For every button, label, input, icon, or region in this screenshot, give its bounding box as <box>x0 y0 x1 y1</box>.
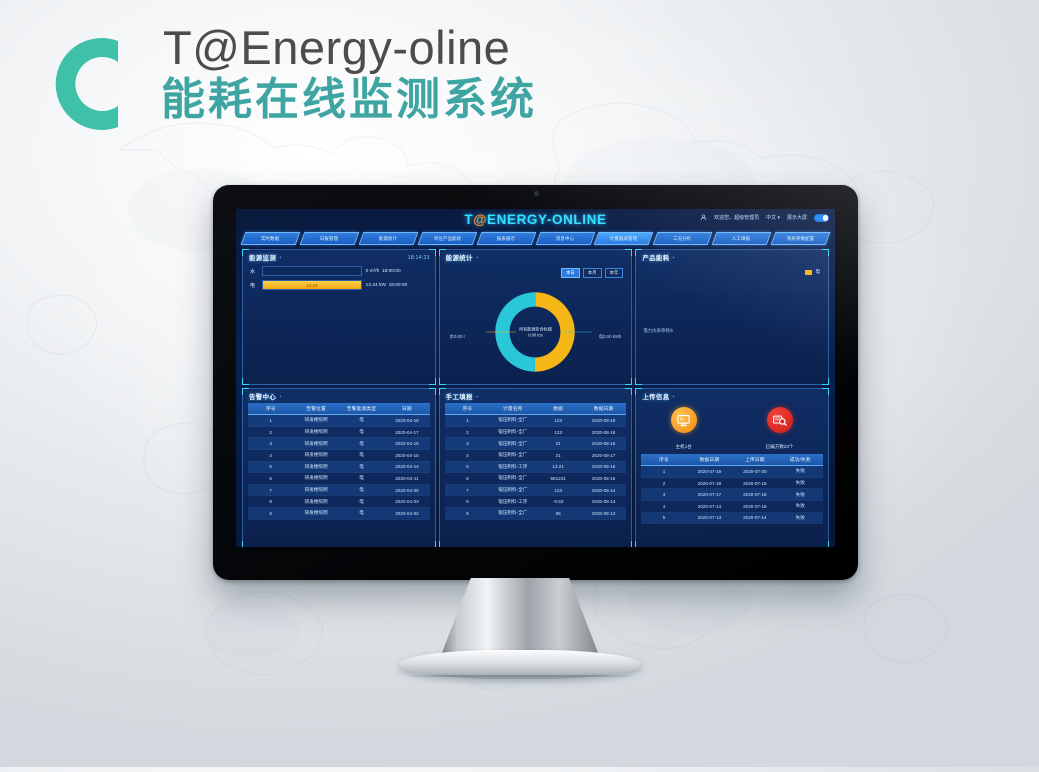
energy-row-water-value: 0 m³/h 18:00:00 <box>366 269 428 274</box>
cell-0: 3 <box>248 438 293 450</box>
table-row[interactable]: 3研发楼照明电2020-04-16 <box>248 438 430 450</box>
cell-1: 锻压制料-全厂 <box>490 426 535 438</box>
nav-label-5: 消息中心 <box>556 236 574 242</box>
upload-stat-docs-label: 已编方数23个 <box>766 444 794 449</box>
manual-table: 序号计量名称数据数据日期 1锻压制料-全厂1232020-08-192锻压制料-… <box>445 403 627 520</box>
upload-table-head: 序号数据日期上传日期成功/失败 <box>641 454 823 466</box>
panel-header-energy-monitor: 能源监测 + 18:14:23 <box>243 250 435 264</box>
cell-0: 6 <box>445 473 490 485</box>
column-header-1: 数据日期 <box>687 454 732 466</box>
cell-3: 2020-08-17 <box>581 449 626 461</box>
panel-upload-info: 上传信息 + 主机1台 <box>635 388 829 547</box>
cell-3: 2020-08-18 <box>581 438 626 450</box>
energy-row-electric-label: 电 <box>250 282 258 289</box>
panel-title-manual-entry: 手工填报 <box>446 392 473 401</box>
upload-stat-host-label: 主机1台 <box>676 444 692 449</box>
cell-2: 2020-07-18 <box>732 489 777 501</box>
column-header-2: 上传日期 <box>732 454 777 466</box>
cell-2: 电 <box>339 461 384 473</box>
panel-energy-monitor: 能源监测 + 18:14:23 水 0 m³/h 18:00:00 电 13.2… <box>242 249 436 385</box>
cell-0: 4 <box>445 449 490 461</box>
nav-item-4[interactable]: 报表展示 <box>476 232 536 245</box>
nav-item-8[interactable]: 人工填报 <box>712 232 772 245</box>
nav-item-9[interactable]: 系统参数配置 <box>771 232 831 245</box>
alarm-header-row: 序号告警位置告警能源类型日期 <box>248 403 430 415</box>
panel-title-upload-info: 上传信息 <box>642 392 669 401</box>
cell-1: 锻压制料-全厂 <box>490 507 535 519</box>
cell-1: 研发楼照明 <box>293 484 338 496</box>
cell-3: 失败 <box>778 489 823 501</box>
table-row[interactable]: 9锻压制料-全厂552020-08-13 <box>445 507 627 519</box>
column-header-3: 成功/失败 <box>778 454 823 466</box>
cell-0: 1 <box>445 415 490 427</box>
app-header: T@ENERGY-ONLINE 欢迎您，超级管理员 中文 ▾ 展示大屏 <box>236 209 835 231</box>
dashboard-grid: 能源监测 + 18:14:23 水 0 m³/h 18:00:00 电 13.2… <box>236 245 835 547</box>
nav-label-3: 单位产品能耗 <box>433 236 461 242</box>
cell-1: 锻压制料-全厂 <box>490 415 535 427</box>
column-header-0: 序号 <box>641 454 686 466</box>
alarm-table-body: 1研发楼照明电2020-04-182研发楼照明电2020-04-173研发楼照明… <box>248 415 430 519</box>
cell-1: 研发楼照明 <box>293 496 338 508</box>
cell-3: 2020-08-15 <box>581 473 626 485</box>
nav-label-9: 系统参数配置 <box>787 236 815 242</box>
cell-1: 研发楼照明 <box>293 473 338 485</box>
cell-0: 5 <box>445 461 490 473</box>
panel-more-energy-monitor[interactable]: + <box>279 255 282 260</box>
energy-row-electric-bar-value: 13.24 <box>306 283 317 288</box>
cell-1: 2020-07-19 <box>687 466 732 478</box>
language-menu[interactable]: 中文 ▾ <box>766 214 780 221</box>
user-area[interactable]: 欢迎您，超级管理员 中文 ▾ 展示大屏 <box>700 214 829 222</box>
manual-table-head: 序号计量名称数据数据日期 <box>445 403 627 415</box>
upload-table-wrap[interactable]: 序号数据日期上传日期成功/失败 12020-07-192020-07-20失败2… <box>636 454 828 524</box>
cell-3: 2020-04-03 <box>384 496 429 508</box>
cell-0: 4 <box>248 449 293 461</box>
range-tab-year[interactable]: 本年 <box>605 268 624 278</box>
cell-1: 2020-07-18 <box>687 477 732 489</box>
cell-2: 2020-07-19 <box>732 477 777 489</box>
panel-header-manual-entry: 手工填报 + <box>440 389 632 403</box>
energy-row-water-bar <box>262 266 362 276</box>
cell-0: 9 <box>445 507 490 519</box>
cell-1: 锻压制料-工序 <box>490 461 535 473</box>
energy-row-electric-value: 13.24 kW 18:00:00 <box>366 283 428 288</box>
column-header-1: 计量名称 <box>490 403 535 415</box>
nav-label-8: 人工填报 <box>733 236 751 242</box>
table-row[interactable]: 52020-07-132020-07-14失败 <box>641 512 823 524</box>
table-row[interactable]: 4研发楼照明电2020-04-15 <box>248 449 430 461</box>
upload-stat-host[interactable]: 主机1台 <box>671 407 697 453</box>
cell-3: 2020-08-14 <box>581 484 626 496</box>
cell-1: 研发楼照明 <box>293 507 338 519</box>
cell-1: 锻压制料-全厂 <box>490 473 535 485</box>
table-row[interactable]: 1锻压制料-全厂1232020-08-19 <box>445 415 627 427</box>
cell-0: 7 <box>445 484 490 496</box>
table-row[interactable]: 3锻压制料-全厂212020-08-18 <box>445 438 627 450</box>
nav-label-4: 报表展示 <box>497 236 515 242</box>
table-row[interactable]: 9研发楼照明电2020-04-02 <box>248 507 430 519</box>
panel-more-energy-stat[interactable]: + <box>476 255 479 260</box>
cell-1: 研发楼照明 <box>293 461 338 473</box>
cell-0: 4 <box>641 500 686 512</box>
cell-0: 2 <box>248 426 293 438</box>
nav-item-0[interactable]: 实时数据 <box>241 232 301 245</box>
table-row[interactable]: 5研发楼照明电2020-04-14 <box>248 461 430 473</box>
cell-2: 21 <box>535 449 580 461</box>
cell-3: 失败 <box>778 512 823 524</box>
legend-label-electric: 电 <box>815 269 820 275</box>
cell-2: 电 <box>339 426 384 438</box>
camera-dot-icon <box>534 191 539 196</box>
panel-energy-stat: 能源统计 + 本日 本月 本年 水0 <box>439 249 633 385</box>
donut-label-water: 水0.00 t <box>450 334 465 340</box>
manual-header-row: 序号计量名称数据数据日期 <box>445 403 627 415</box>
cell-0: 1 <box>641 466 686 478</box>
table-row[interactable]: 2锻压制料-全厂1232020-08-18 <box>445 426 627 438</box>
panel-header-energy-stat: 能源统计 + <box>440 250 632 264</box>
cell-1: 2020-07-17 <box>687 489 732 501</box>
cell-1: 研发楼照明 <box>293 426 338 438</box>
table-row[interactable]: 4锻压制料-全厂212020-08-17 <box>445 449 627 461</box>
cell-0: 8 <box>445 496 490 508</box>
donut-center-line1: 所有能源折合标煤 <box>519 326 552 331</box>
cell-3: 2020-08-13 <box>581 507 626 519</box>
monitor-frame: T@ENERGY-ONLINE 欢迎您，超级管理员 中文 ▾ 展示大屏 实时数据… <box>213 185 858 580</box>
table-row[interactable]: 6研发楼照明电2020-04-11 <box>248 473 430 485</box>
table-row[interactable]: 8锻压制料-工序-0.532020-08-14 <box>445 496 627 508</box>
page-title-en: T@Energy-oline <box>163 24 510 71</box>
cell-0: 1 <box>248 415 293 427</box>
table-row[interactable]: 42020-07-142020-07-15失败 <box>641 500 823 512</box>
panel-more-manual-entry[interactable]: + <box>476 394 479 399</box>
column-header-3: 日期 <box>384 403 429 415</box>
table-row[interactable]: 7锻压制料-全厂1232020-08-14 <box>445 484 627 496</box>
cell-3: 2020-04-11 <box>384 473 429 485</box>
alarm-table-wrap[interactable]: 序号告警位置告警能源类型日期 1研发楼照明电2020-04-182研发楼照明电2… <box>243 403 435 520</box>
cell-1: 锻压制料-工序 <box>490 496 535 508</box>
cell-0: 5 <box>248 461 293 473</box>
energy-row-electric: 电 13.24 13.24 kW 18:00:00 <box>243 278 435 292</box>
dashboard-screen: T@ENERGY-ONLINE 欢迎您，超级管理员 中文 ▾ 展示大屏 实时数据… <box>236 209 835 547</box>
table-row[interactable]: 6锻压制料-全厂5612412020-08-15 <box>445 473 627 485</box>
cell-1: 2020-07-13 <box>687 512 732 524</box>
energy-row-water-label: 水 <box>250 268 258 275</box>
cell-1: 研发楼照明 <box>293 449 338 461</box>
product-energy-axis-note: 电力仪表单耗/h <box>643 328 673 334</box>
cell-0: 8 <box>248 496 293 508</box>
panel-header-upload-info: 上传信息 + <box>636 389 828 403</box>
cell-3: 2020-04-02 <box>384 507 429 519</box>
cell-0: 2 <box>445 426 490 438</box>
upload-table: 序号数据日期上传日期成功/失败 12020-07-192020-07-20失败2… <box>641 454 823 524</box>
cell-0: 7 <box>248 484 293 496</box>
table-row[interactable]: 22020-07-182020-07-19失败 <box>641 477 823 489</box>
app-logo: T@ENERGY-ONLINE <box>464 212 606 227</box>
cell-2: 电 <box>339 484 384 496</box>
column-header-0: 序号 <box>248 403 293 415</box>
cell-2: 电 <box>339 415 384 427</box>
upload-table-body: 12020-07-192020-07-20失败22020-07-182020-0… <box>641 466 823 524</box>
cell-2: 123 <box>535 426 580 438</box>
panel-title-alarm-center: 告警中心 <box>249 392 276 401</box>
panel-title-energy-stat: 能源统计 <box>446 253 473 262</box>
cell-2: 123 <box>535 484 580 496</box>
range-tab-day[interactable]: 本日 <box>561 268 580 278</box>
cell-0: 3 <box>445 438 490 450</box>
cell-1: 锻压制料-全厂 <box>490 449 535 461</box>
donut-label-electric: 电0.00 kWh <box>599 334 621 340</box>
cell-3: 2020-04-18 <box>384 415 429 427</box>
app-logo-at: @ <box>473 212 487 227</box>
cell-2: 2020-07-14 <box>732 512 777 524</box>
cell-0: 9 <box>248 507 293 519</box>
legend-swatch-electric <box>805 270 812 275</box>
table-row[interactable]: 2研发楼照明电2020-04-17 <box>248 426 430 438</box>
panel-header-product-energy: 产品能耗 + <box>636 250 828 264</box>
cell-0: 2 <box>641 477 686 489</box>
manual-table-wrap[interactable]: 序号计量名称数据数据日期 1锻压制料-全厂1232020-08-192锻压制料-… <box>440 403 632 520</box>
panel-alarm-center: 告警中心 + 序号告警位置告警能源类型日期 1研发楼照明电2020-04-182… <box>242 388 436 547</box>
cell-2: 2020-07-20 <box>732 466 777 478</box>
cell-3: 2020-04-05 <box>384 484 429 496</box>
upload-stats: 主机1台 已编方数23个 <box>636 403 828 454</box>
page-title-cn: 能耗在线监测系统 <box>161 78 537 122</box>
user-icon <box>700 214 707 221</box>
cell-3: 2020-08-14 <box>581 496 626 508</box>
cell-2: 55 <box>535 507 580 519</box>
table-row[interactable]: 12020-07-192020-07-20失败 <box>641 466 823 478</box>
nav-label-6: 计量器具管理 <box>610 236 638 242</box>
panel-product-energy: 产品能耗 + 电 电力仪表单耗/h <box>635 249 829 385</box>
range-tab-month[interactable]: 本月 <box>583 268 602 278</box>
cell-3: 2020-08-19 <box>581 415 626 427</box>
donut-center-line2: 0.00 tce <box>528 332 543 337</box>
energy-row-water: 水 0 m³/h 18:00:00 <box>243 264 435 278</box>
panel-title-product-energy: 产品能耗 <box>642 253 669 262</box>
nav-item-3[interactable]: 单位产品能耗 <box>417 232 477 245</box>
table-row[interactable]: 7研发楼照明电2020-04-05 <box>248 484 430 496</box>
energy-stat-range-tabs: 本日 本月 本年 <box>561 268 623 278</box>
nav-label-7: 工况分析 <box>674 236 692 242</box>
cell-3: 2020-08-18 <box>581 426 626 438</box>
manual-table-body: 1锻压制料-全厂1232020-08-192锻压制料-全厂1232020-08-… <box>445 415 627 519</box>
nav-item-7[interactable]: 工况分析 <box>653 232 713 245</box>
panel-more-alarm-center[interactable]: + <box>279 394 282 399</box>
cell-3: 2020-04-15 <box>384 449 429 461</box>
cell-3: 2020-04-16 <box>384 438 429 450</box>
panel-more-product-energy[interactable]: + <box>673 255 676 260</box>
cell-2: -0.53 <box>535 496 580 508</box>
panel-title-energy-monitor: 能源监测 <box>249 253 276 262</box>
alarm-table-head: 序号告警位置告警能源类型日期 <box>248 403 430 415</box>
column-header-3: 数据日期 <box>581 403 626 415</box>
cell-2: 电 <box>339 496 384 508</box>
cell-2: 12.21 <box>535 461 580 473</box>
column-header-2: 告警能源类型 <box>339 403 384 415</box>
cell-2: 电 <box>339 507 384 519</box>
column-header-0: 序号 <box>445 403 490 415</box>
panel-header-alarm-center: 告警中心 + <box>243 389 435 403</box>
nav-label-2: 能源统计 <box>379 236 397 242</box>
main-nav: 实时数据 日报管理 能源统计 单位产品能耗 报表展示 消息中心 计量器具管理 工… <box>236 231 835 245</box>
nav-label-0: 实时数据 <box>261 236 279 242</box>
nav-label-1: 日报管理 <box>320 236 338 242</box>
user-name: 欢迎您，超级管理员 <box>714 214 759 221</box>
cell-0: 5 <box>641 512 686 524</box>
app-logo-suffix: ENERGY-ONLINE <box>487 212 607 227</box>
energy-row-electric-bar: 13.24 <box>262 280 362 290</box>
table-row[interactable]: 8研发楼照明电2020-04-03 <box>248 496 430 508</box>
cell-2: 561241 <box>535 473 580 485</box>
upload-header-row: 序号数据日期上传日期成功/失败 <box>641 454 823 466</box>
column-header-2: 数据 <box>535 403 580 415</box>
nav-item-1[interactable]: 日报管理 <box>300 232 360 245</box>
table-row[interactable]: 32020-07-172020-07-18失败 <box>641 489 823 501</box>
table-row[interactable]: 5锻压制料-工序12.212020-08-15 <box>445 461 627 473</box>
cell-3: 失败 <box>778 500 823 512</box>
cell-1: 2020-07-14 <box>687 500 732 512</box>
app-logo-prefix: T <box>464 212 473 227</box>
big-screen-toggle-label: 展示大屏 <box>787 214 807 221</box>
monitor-stand-base <box>399 650 641 679</box>
cell-3: 失败 <box>778 466 823 478</box>
energy-donut-chart: 水0.00 t 电0.00 kWh 所有能源折合标煤 0.00 tce <box>440 284 632 380</box>
cell-0: 3 <box>641 489 686 501</box>
panel-manual-entry: 手工填报 + 序号计量名称数据数据日期 1锻压制料-全厂1232020-08-1… <box>439 388 633 547</box>
upload-stat-docs[interactable]: 已编方数23个 <box>766 407 794 453</box>
panel-more-upload-info[interactable]: + <box>673 394 676 399</box>
nav-item-2[interactable]: 能源统计 <box>358 232 418 245</box>
document-search-icon <box>767 407 793 433</box>
cell-2: 电 <box>339 473 384 485</box>
cell-2: 电 <box>339 438 384 450</box>
clock-label: 18:14:23 <box>408 255 430 261</box>
cell-2: 21 <box>535 438 580 450</box>
nav-item-6[interactable]: 计量器具管理 <box>594 232 654 245</box>
cell-1: 锻压制料-全厂 <box>490 438 535 450</box>
nav-item-5[interactable]: 消息中心 <box>535 232 595 245</box>
c-arc-logo-icon <box>55 31 129 137</box>
cell-2: 电 <box>339 449 384 461</box>
server-host-icon <box>671 407 697 433</box>
cell-1: 研发楼照明 <box>293 415 338 427</box>
table-row[interactable]: 1研发楼照明电2020-04-18 <box>248 415 430 427</box>
cell-0: 6 <box>248 473 293 485</box>
cell-1: 锻压制料-全厂 <box>490 484 535 496</box>
cell-3: 失败 <box>778 477 823 489</box>
cell-3: 2020-08-15 <box>581 461 626 473</box>
alarm-table: 序号告警位置告警能源类型日期 1研发楼照明电2020-04-182研发楼照明电2… <box>248 403 430 520</box>
column-header-1: 告警位置 <box>293 403 338 415</box>
cell-3: 2020-04-14 <box>384 461 429 473</box>
cell-3: 2020-04-17 <box>384 426 429 438</box>
product-energy-legend: 电 <box>805 269 820 275</box>
cell-1: 研发楼照明 <box>293 438 338 450</box>
cell-2: 2020-07-15 <box>732 500 777 512</box>
cell-2: 123 <box>535 415 580 427</box>
donut-center-text: 所有能源折合标煤 0.00 tce <box>519 326 552 337</box>
big-screen-toggle[interactable] <box>814 214 829 222</box>
